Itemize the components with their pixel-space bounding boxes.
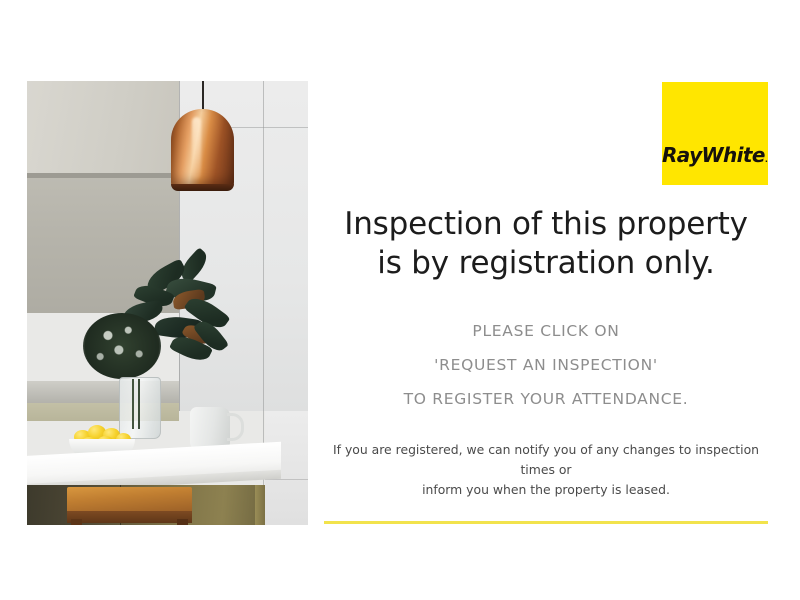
inspection-notice-slide: RayWhite. Inspection of this property is… xyxy=(0,0,800,600)
instruction-line-3: TO REGISTER YOUR ATTENDANCE. xyxy=(324,382,768,416)
notice-content: Inspection of this property is by regist… xyxy=(324,205,768,500)
page-title: Inspection of this property is by regist… xyxy=(324,205,768,283)
pendant-rim xyxy=(171,184,234,191)
instruction-line-2: 'REQUEST AN INSPECTION' xyxy=(324,348,768,382)
blossom-cluster xyxy=(83,313,161,379)
wooden-stool-seat xyxy=(67,487,192,513)
niche-shadow xyxy=(27,173,179,178)
jug-handle xyxy=(227,413,244,441)
wooden-stool-leg xyxy=(177,519,188,525)
ray-white-logo: RayWhite. xyxy=(662,82,768,185)
island-side-panel xyxy=(255,485,265,525)
instruction-line-1: PLEASE CLICK ON xyxy=(324,314,768,348)
copper-pendant-lamp-icon xyxy=(171,109,234,191)
registered-mark: . xyxy=(765,155,768,164)
fineprint-block: If you are registered, we can notify you… xyxy=(324,440,768,500)
instructions-block: PLEASE CLICK ON 'REQUEST AN INSPECTION' … xyxy=(324,314,768,416)
wooden-stool-leg xyxy=(71,519,82,525)
pendant-highlight xyxy=(192,117,201,179)
wooden-stool-apron xyxy=(67,511,192,523)
pendant-cord xyxy=(202,81,204,111)
headline-line-2: is by registration only. xyxy=(324,244,768,283)
ray-white-logo-text: RayWhite. xyxy=(662,143,756,167)
fineprint-line-2: inform you when the property is leased. xyxy=(324,480,768,500)
photo-scene xyxy=(27,81,308,525)
kitchen-interior-photo xyxy=(27,81,308,525)
yellow-divider xyxy=(324,521,768,524)
headline-line-1: Inspection of this property xyxy=(324,205,768,244)
fineprint-line-1: If you are registered, we can notify you… xyxy=(324,440,768,480)
brand-name: RayWhite xyxy=(662,143,765,167)
vase-stems xyxy=(129,379,147,429)
